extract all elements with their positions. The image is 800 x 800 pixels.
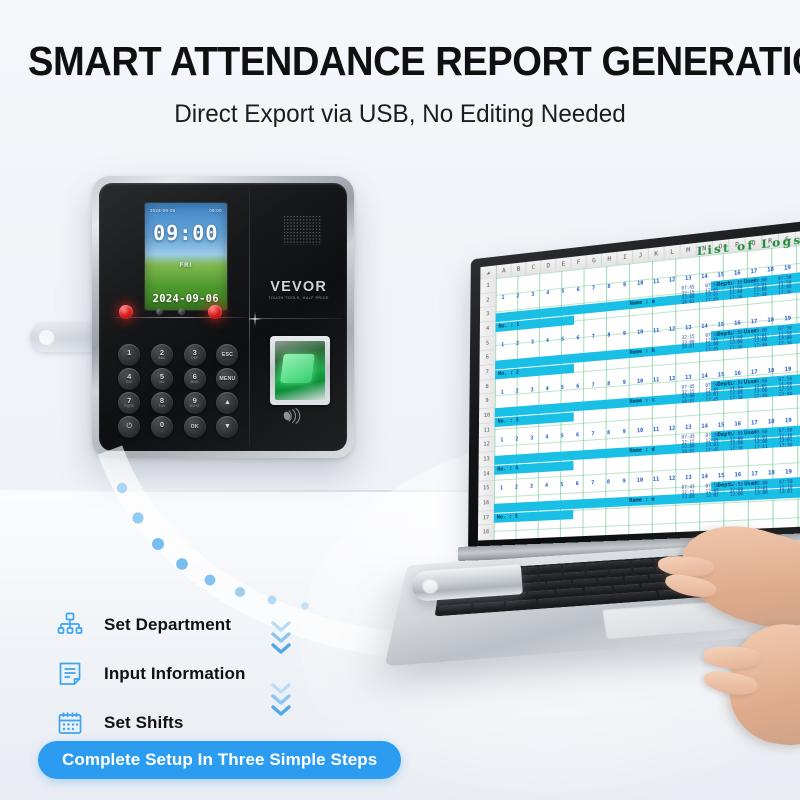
keyboard-key[interactable] (631, 559, 653, 567)
punch-time-column: 07:5011:5813:0017:36 (772, 275, 797, 297)
punch-time: 17:40 (748, 292, 772, 299)
punch-time-column: 07:4512:1513:0018:01 (676, 384, 700, 405)
punch-time: 18:01 (676, 449, 700, 455)
day-number: 3 (525, 339, 540, 348)
punch-time: 17:36 (724, 294, 748, 301)
chevron-down-group-1 (268, 618, 294, 660)
device-clock: 09:00 (145, 221, 227, 245)
keypad-key-glyph-icon: ⏻ (126, 423, 132, 430)
day-number: 8 (601, 430, 617, 439)
keypad-key-letters: TUV (158, 405, 165, 408)
calendar-icon (50, 706, 90, 740)
day-number: 20 (796, 263, 800, 273)
day-number: 3 (525, 387, 540, 396)
org-chart-icon (50, 608, 90, 642)
keyboard-key[interactable] (599, 577, 624, 586)
day-number: 4 (540, 337, 555, 346)
day-number: 5 (554, 482, 569, 491)
day-number: 5 (555, 384, 570, 393)
spreadsheet-no-label: No. : 5 (497, 513, 518, 520)
brand-name: VEVOR (258, 279, 340, 295)
day-number: 8 (601, 332, 617, 342)
day-number: 2 (510, 388, 525, 397)
keypad-key-down[interactable]: ▼ (216, 416, 238, 438)
day-number: 10 (632, 427, 648, 436)
feature-label: Set Department (104, 615, 231, 635)
keypad-key-letters: DEF (191, 357, 198, 360)
device-status-bar: 2024-09-06 09:00 (145, 203, 227, 217)
status-time: 09:00 (209, 208, 222, 213)
punch-time-column: 07:5012:0013:00 (724, 482, 748, 498)
keyboard-key[interactable] (540, 573, 562, 581)
device-keypad[interactable]: 1.2ABC3DEFESC4GHI5JKL6MNOMENU7PQRS8TUV9W… (114, 344, 243, 438)
spreadsheet-row-17[interactable]: 17 (478, 511, 494, 526)
rfid-wave-icon (281, 408, 303, 424)
day-number: 2 (510, 340, 525, 349)
day-number: 1 (495, 342, 510, 351)
day-number: 9 (617, 281, 633, 291)
keyboard-key[interactable] (439, 604, 471, 614)
punch-time-column: 07:5012:0513:01 (700, 483, 724, 499)
day-number: 6 (570, 481, 585, 490)
day-number: 12 (664, 326, 680, 336)
day-number: 20 (797, 365, 800, 375)
day-number: 6 (570, 432, 585, 441)
keyboard-key[interactable] (573, 579, 598, 588)
spreadsheet-row-13[interactable]: 13 (479, 452, 495, 468)
day-number: 4 (540, 290, 555, 300)
day-number: 10 (632, 477, 648, 486)
led-indicator-dark-2 (178, 308, 185, 315)
laptop: ◢ABCDEFGHIJKLMNOPQRSTU 12345678910111213… (430, 255, 800, 685)
punch-time: 17:45 (700, 397, 724, 404)
spreadsheet-row-8[interactable]: 8 (479, 379, 495, 395)
punch-time-column: 07:4512:1513:0018:01 (676, 434, 700, 455)
device-face: 2024-09-06 09:00 09:00 FRI 2024-09-06 VE… (99, 183, 347, 451)
day-number: 11 (648, 476, 664, 485)
punch-time-column: 12:1513:0018:01 (676, 334, 700, 355)
device-screen: 2024-09-06 09:00 09:00 FRI 2024-09-06 (145, 203, 227, 310)
keypad-key-label: ESC (222, 352, 233, 358)
day-number: 1 (495, 389, 510, 398)
day-number: 13 (680, 474, 696, 483)
day-number: 3 (525, 291, 540, 300)
day-number: 2 (509, 484, 524, 493)
led-indicator-red-right (208, 305, 222, 319)
keypad-key-3[interactable]: 3DEF (184, 344, 206, 366)
punch-time-column: 07:5012:0513:0117:45 (700, 433, 724, 454)
day-number: 12 (664, 375, 680, 385)
spreadsheet-row-9[interactable]: 9 (479, 394, 495, 410)
punch-time: 17:36 (773, 443, 798, 449)
spreadsheet-row-4[interactable]: 4 (480, 321, 496, 337)
keypad-key-letters: WXYZ (190, 405, 200, 408)
spreadsheet-row-7[interactable]: 7 (479, 365, 495, 381)
spreadsheet-row-11[interactable]: 11 (479, 423, 495, 439)
punch-time: 18:01 (676, 399, 700, 406)
sparkle-icon (244, 308, 266, 330)
punch-time: 17:36 (724, 446, 748, 452)
spreadsheet-row-12[interactable]: 12 (479, 437, 495, 453)
punch-time: 17:45 (700, 347, 724, 354)
page-subtitle: Direct Export via USB, No Editing Needed (12, 100, 788, 129)
day-number: 5 (555, 336, 570, 345)
day-number: 5 (555, 288, 570, 298)
day-number: 7 (585, 480, 601, 489)
keyboard-key[interactable] (633, 567, 656, 575)
keypad-key-power[interactable]: ⏻ (118, 416, 140, 438)
punch-time-column: 07:5011:5913:0017:36 (724, 330, 748, 351)
day-number: 8 (601, 381, 617, 390)
day-number: 7 (586, 285, 601, 295)
punch-time: 17:36 (773, 340, 798, 347)
day-number: 10 (632, 329, 648, 339)
keypad-key-esc[interactable]: ESC (216, 344, 238, 366)
keypad-key-letters: GHI (126, 381, 132, 384)
punch-time: 13:00 (773, 391, 798, 398)
day-number: 5 (554, 433, 569, 442)
feature-item-input-information: Input Information (50, 649, 380, 698)
spreadsheet-no-label: No. : 4 (497, 465, 518, 472)
spreadsheet-row-5[interactable]: 5 (480, 336, 496, 352)
keyboard-key[interactable] (563, 571, 585, 579)
spreadsheet-row-15[interactable]: 15 (478, 481, 494, 497)
day-number: 11 (648, 278, 664, 288)
led-indicator-dark-1 (156, 308, 163, 315)
punch-time: 17:41 (749, 444, 774, 450)
day-number: 11 (648, 377, 664, 387)
keypad-key-label: OK (191, 424, 199, 430)
fingerprint-window (275, 341, 325, 401)
keypad-key-letters: ABC (158, 357, 165, 360)
device-weekday: FRI (145, 263, 227, 269)
day-number: 9 (616, 429, 632, 438)
keypad-key-1[interactable]: 1. (118, 344, 140, 366)
day-number: 6 (571, 286, 586, 296)
day-number: 2 (509, 436, 524, 445)
day-number: 7 (585, 431, 601, 440)
document-icon (50, 657, 90, 691)
punch-time: 18:01 (676, 299, 700, 306)
keyboard-key[interactable] (472, 602, 503, 612)
punch-time-column: 07:5012:1013:0117:36 (773, 428, 798, 449)
day-number: 4 (539, 482, 554, 491)
day-number: 6 (570, 335, 585, 344)
spreadsheet-grid[interactable]: 123456789101112131415161718192021Dept. :… (494, 242, 800, 540)
device-date: 2024-09-06 (145, 293, 227, 305)
punch-time-column: 07:4512:1513:0018:01 (676, 285, 700, 306)
day-number: 13 (680, 275, 696, 285)
status-date: 2024-09-06 (150, 208, 176, 213)
punch-time-column: 07:5011:5913:0017:36 (724, 380, 748, 401)
keypad-key-menu[interactable]: MENU (216, 368, 238, 390)
keypad-key-letters: PQRS (124, 405, 134, 408)
keyboard-key[interactable] (505, 600, 536, 610)
spreadsheet-row-14[interactable]: 14 (478, 467, 494, 483)
keyboard-key[interactable] (624, 575, 649, 583)
day-number: 10 (632, 378, 648, 387)
spreadsheet-row-6[interactable]: 6 (480, 350, 496, 366)
feature-item-set-shifts: Set Shifts (50, 698, 380, 747)
keyboard-key[interactable] (585, 562, 607, 570)
laptop-lid: ◢ABCDEFGHIJKLMNOPQRSTU 12345678910111213… (468, 217, 800, 555)
keypad-key-up[interactable]: ▲ (216, 392, 238, 414)
page-title: SMART ATTENDANCE REPORT GENERATION (28, 38, 772, 85)
fingerprint-plate (280, 354, 314, 383)
punch-time-column: 07:4512:1513:00 (676, 485, 700, 501)
day-number: 20 (796, 313, 800, 323)
day-number: 7 (585, 382, 601, 391)
feature-label: Input Information (104, 664, 245, 684)
keypad-key-0[interactable]: 0␣ (151, 416, 173, 438)
feature-list: Set Department Input Information (50, 600, 380, 747)
keyboard-key[interactable] (608, 561, 630, 569)
fingerprint-scanner[interactable] (270, 336, 330, 406)
day-number: 11 (648, 327, 664, 337)
keyboard-key[interactable] (521, 582, 545, 591)
keypad-key-letters: JKL (159, 381, 165, 384)
punch-time-column: 07:5011:5813:0017:36 (773, 326, 798, 348)
feature-label: Set Shifts (104, 713, 183, 733)
day-number: 3 (524, 435, 539, 444)
day-number: 10 (632, 280, 648, 290)
punch-time-column: 07:5012:0513:0117:45 (700, 382, 724, 403)
punch-time: 17:45 (700, 447, 724, 453)
chevron-down-group-2 (268, 680, 294, 722)
day-number: 12 (664, 425, 680, 434)
laptop-screen: ◢ABCDEFGHIJKLMNOPQRSTU 12345678910111213… (478, 228, 800, 541)
day-number: 9 (617, 330, 633, 340)
day-number: 4 (540, 386, 555, 395)
keyboard-key[interactable] (587, 570, 609, 578)
punch-time-column: 07:5012:1013:01 (773, 479, 798, 495)
day-number: 13 (680, 374, 696, 384)
spreadsheet-row-16[interactable]: 16 (478, 496, 494, 511)
day-number: 4 (539, 434, 554, 443)
keypad-key-7[interactable]: 7PQRS (118, 392, 140, 414)
spreadsheet[interactable]: ◢ABCDEFGHIJKLMNOPQRSTU 12345678910111213… (478, 228, 800, 541)
spreadsheet-row-18[interactable]: 18 (478, 525, 494, 540)
keypad-key-letters: ␣ (161, 429, 163, 432)
keypad-key-glyph-icon: ▼ (224, 423, 231, 430)
keyboard-key[interactable] (562, 564, 584, 572)
day-number: 9 (617, 379, 633, 388)
keypad-key-9[interactable]: 9WXYZ (184, 392, 206, 414)
keypad-key-letters: . (129, 357, 130, 360)
day-number: 8 (601, 479, 617, 488)
spreadsheet-row-10[interactable]: 10 (479, 408, 495, 424)
day-number: 13 (680, 324, 696, 334)
spreadsheet-name-label: Name : e (629, 496, 655, 504)
day-number: 3 (524, 483, 539, 492)
brand-logo: VEVOR TOUGH TOOLS, HALF PRICE (258, 279, 340, 300)
keypad-key-label: MENU (219, 376, 235, 382)
punch-time-column: 08:0012:0113:00 (749, 481, 774, 497)
day-number: 7 (586, 333, 601, 342)
punch-time-column: 08:0012:0113:0017:40 (748, 277, 773, 299)
punch-time-column: 07:5011:5812:1513:00 (773, 377, 798, 398)
punch-time-column: 08:0012:0113:0017:40 (748, 379, 773, 400)
keypad-key-2[interactable]: 2ABC (151, 344, 173, 366)
feature-item-set-department: Set Department (50, 600, 380, 649)
day-number: 2 (510, 293, 525, 302)
day-number: 6 (570, 383, 585, 392)
punch-time: 17:40 (748, 393, 773, 400)
keypad-key-4[interactable]: 4GHI (118, 368, 140, 390)
attendance-device: 2024-09-06 09:00 09:00 FRI 2024-09-06 VE… (92, 176, 354, 458)
punch-time: 17:36 (773, 289, 798, 296)
punch-time: 17:36 (724, 395, 748, 402)
day-number: 13 (680, 424, 696, 433)
punch-time: 18:01 (676, 344, 700, 351)
keypad-key-ok[interactable]: OK (184, 416, 206, 438)
punch-time-column: 07:5012:0513:0117:45 (700, 282, 724, 303)
day-number: 9 (616, 478, 632, 487)
punch-time: 17:45 (700, 297, 724, 304)
punch-time-column: 08:0012:0113:0017:41 (749, 430, 774, 451)
day-number: 1 (494, 437, 509, 446)
keypad-key-letters: MNO (191, 381, 199, 384)
keyboard-key[interactable] (547, 580, 571, 589)
keyboard-key[interactable] (539, 565, 561, 573)
punch-time: 17:40 (748, 342, 773, 349)
speaker-grille-icon (283, 215, 323, 244)
brand-tagline: TOUGH TOOLS, HALF PRICE (258, 296, 340, 300)
day-number: 1 (496, 294, 511, 303)
keypad-key-5[interactable]: 5JKL (151, 368, 173, 390)
led-divider (111, 317, 247, 318)
punch-time-column: 08:0012:0113:0017:40 (748, 328, 773, 349)
keypad-key-8[interactable]: 8TUV (151, 392, 173, 414)
punch-time-column: 07:5011:5913:0017:36 (724, 280, 748, 302)
day-number: 12 (664, 475, 680, 484)
punch-time: 17:36 (724, 344, 748, 351)
punch-time-column: 07:5012:0513:0017:45 (700, 332, 724, 353)
keyboard-key[interactable] (610, 568, 633, 576)
keypad-key-6[interactable]: 6MNO (184, 368, 206, 390)
day-number: 1 (494, 485, 509, 494)
punch-time-column: 07:5012:0013:0017:36 (724, 431, 748, 452)
keypad-key-glyph-icon: ▲ (224, 399, 231, 406)
day-number: 8 (601, 283, 617, 293)
cta-banner[interactable]: Complete Setup In Three Simple Steps (38, 741, 401, 779)
led-indicator-red-left (119, 305, 133, 319)
day-number: 12 (664, 276, 680, 286)
day-number: 11 (648, 426, 664, 435)
promo-banner: SMART ATTENDANCE REPORT GENERATION Direc… (0, 0, 800, 800)
